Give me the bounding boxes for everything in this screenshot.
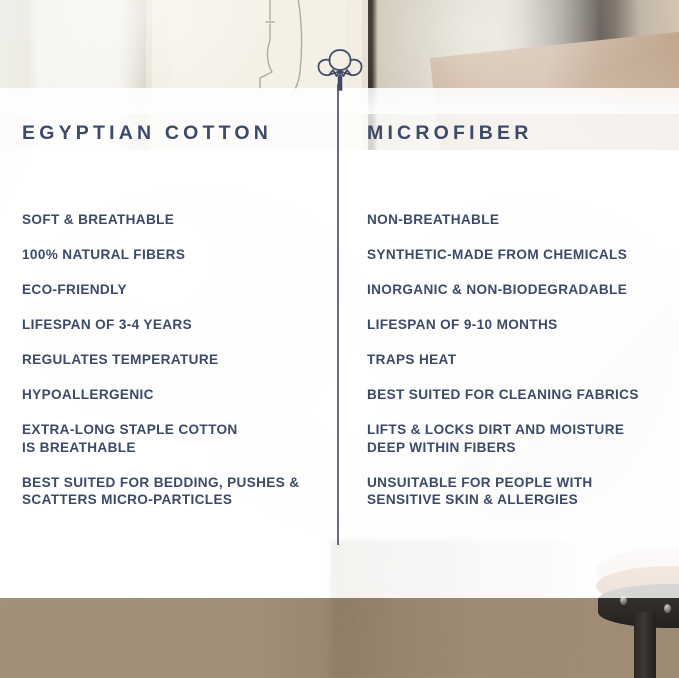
feature-item: HYPOALLERGENIC xyxy=(22,386,342,404)
feature-item: SOFT & BREATHABLE xyxy=(22,211,342,229)
feature-item: REGULATES TEMPERATURE xyxy=(22,351,342,369)
feature-item: EXTRA-LONG STAPLE COTTON IS BREATHABLE xyxy=(22,421,342,456)
side-table-leg xyxy=(634,612,656,678)
feature-item: UNSUITABLE FOR PEOPLE WITH SENSITIVE SKI… xyxy=(367,474,679,509)
cotton-boll-icon xyxy=(313,46,367,94)
feature-item: LIFESPAN OF 3-4 YEARS xyxy=(22,316,342,334)
column-title-egyptian-cotton: EGYPTIAN COTTON xyxy=(22,120,322,146)
feature-item: TRAPS HEAT xyxy=(367,351,679,369)
feature-item: LIFESPAN OF 9-10 MONTHS xyxy=(367,316,679,334)
comparison-infographic: EGYPTIAN COTTON SOFT & BREATHABLE 100% N… xyxy=(0,0,679,678)
feature-item: BEST SUITED FOR BEDDING, PUSHES & SCATTE… xyxy=(22,474,342,509)
table-rivet xyxy=(664,604,671,613)
feature-item: NON-BREATHABLE xyxy=(367,211,679,229)
feature-list-egyptian-cotton: SOFT & BREATHABLE 100% NATURAL FIBERS EC… xyxy=(22,211,342,526)
feature-item: INORGANIC & NON-BIODEGRADABLE xyxy=(367,281,679,299)
feature-item: BEST SUITED FOR CLEANING FABRICS xyxy=(367,386,679,404)
feature-list-microfiber: NON-BREATHABLE SYNTHETIC-MADE FROM CHEMI… xyxy=(367,211,679,526)
feature-item: LIFTS & LOCKS DIRT AND MOISTURE DEEP WIT… xyxy=(367,421,679,456)
column-microfiber: MICROFIBER NON-BREATHABLE SYNTHETIC-MADE… xyxy=(367,120,667,146)
column-title-microfiber: MICROFIBER xyxy=(367,120,667,146)
column-egyptian-cotton: EGYPTIAN COTTON SOFT & BREATHABLE 100% N… xyxy=(22,120,322,146)
feature-item: SYNTHETIC-MADE FROM CHEMICALS xyxy=(367,246,679,264)
feature-item: ECO-FRIENDLY xyxy=(22,281,342,299)
feature-item: 100% NATURAL FIBERS xyxy=(22,246,342,264)
